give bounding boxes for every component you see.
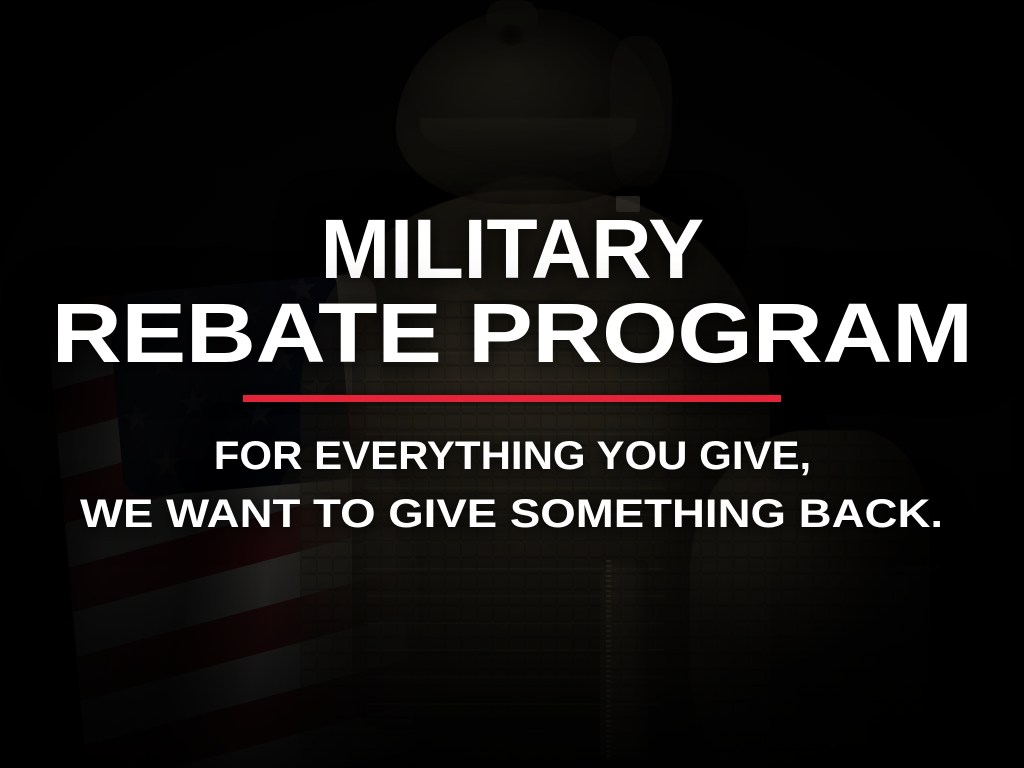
red-rule-divider — [243, 395, 781, 402]
military-rebate-poster: MILITARY REBATE PROGRAM FOR EVERYTHING Y… — [0, 0, 1024, 768]
poster-content: MILITARY REBATE PROGRAM FOR EVERYTHING Y… — [0, 0, 1024, 768]
subheadline-line-2: WE WANT TO GIVE SOMETHING BACK. — [80, 488, 943, 540]
subheadline-line-1: FOR EVERYTHING YOU GIVE, — [213, 430, 810, 482]
headline-line-2: REBATE PROGRAM — [51, 296, 972, 372]
headline-line-1: MILITARY — [320, 212, 703, 288]
